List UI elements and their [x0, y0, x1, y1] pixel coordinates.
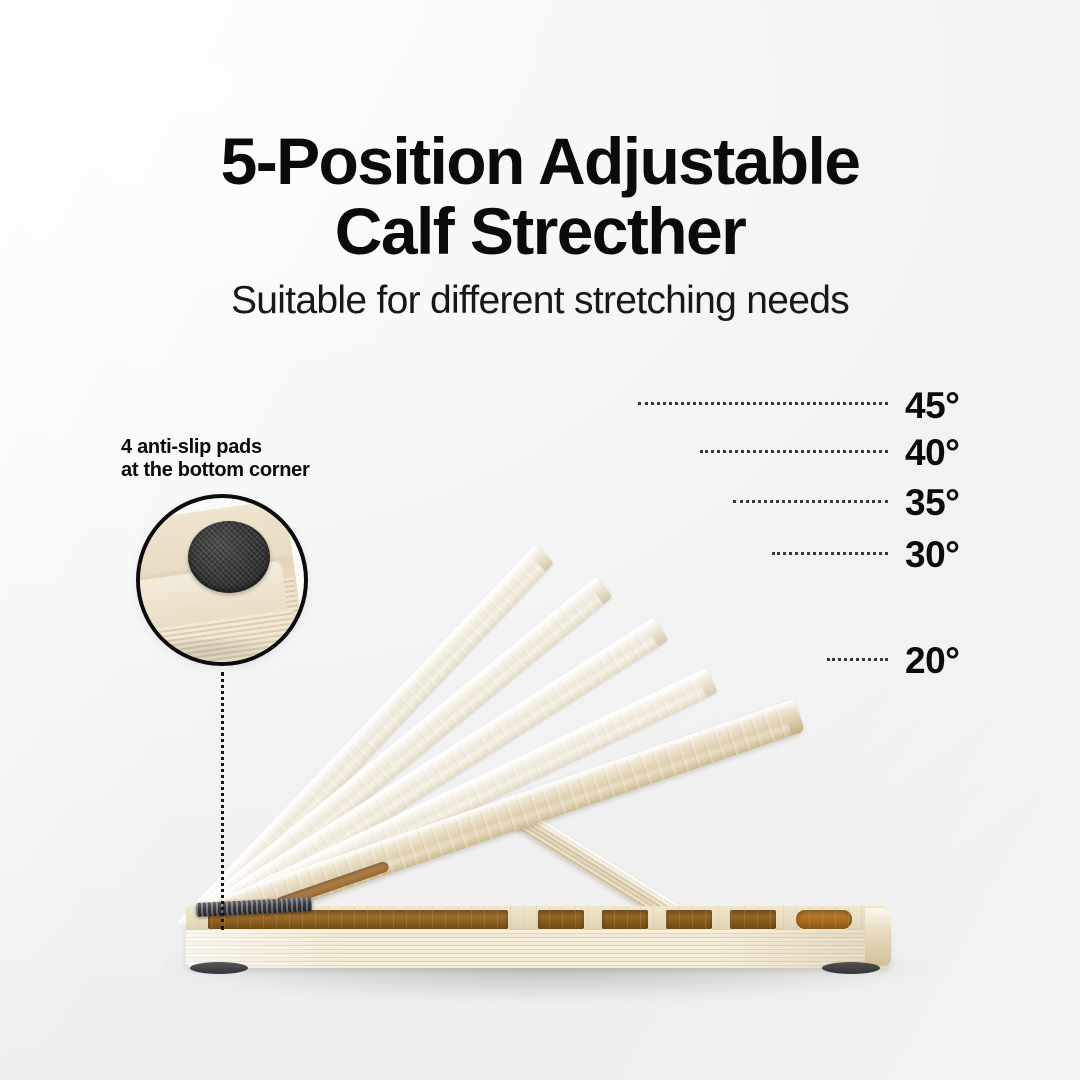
callout-leader-line: [221, 672, 224, 930]
anti-slip-pad-icon: [188, 521, 270, 593]
leader-line-30: [772, 552, 888, 555]
leader-line-35: [733, 500, 888, 503]
anti-slip-detail-circle: [136, 494, 308, 666]
page-subtitle: Suitable for different stretching needs: [0, 278, 1080, 324]
callout-line-1: 4 anti-slip pads: [121, 436, 262, 458]
angle-label-30: 30°: [905, 534, 959, 576]
angle-label-20: 20°: [905, 640, 959, 682]
leader-line-20: [827, 658, 888, 661]
anti-slip-detail-photo: [140, 498, 304, 662]
title-line-1: 5-Position Adjustable: [221, 124, 860, 198]
angle-label-35: 35°: [905, 482, 959, 524]
leader-line-40: [700, 450, 888, 453]
anti-slip-callout-text: 4 anti-slip pads at the bottom corner: [121, 436, 309, 482]
title-line-2: Calf Strecther: [0, 196, 1080, 266]
page-title: 5-Position Adjustable Calf Strecther: [0, 126, 1080, 266]
angle-label-45: 45°: [905, 385, 959, 427]
callout-line-2: at the bottom corner: [121, 459, 309, 481]
angle-label-40: 40°: [905, 432, 959, 474]
product-infographic: 5-Position Adjustable Calf Strecther Sui…: [0, 0, 1080, 1080]
detail-shadow: [136, 639, 304, 666]
leader-line-45: [638, 402, 888, 405]
